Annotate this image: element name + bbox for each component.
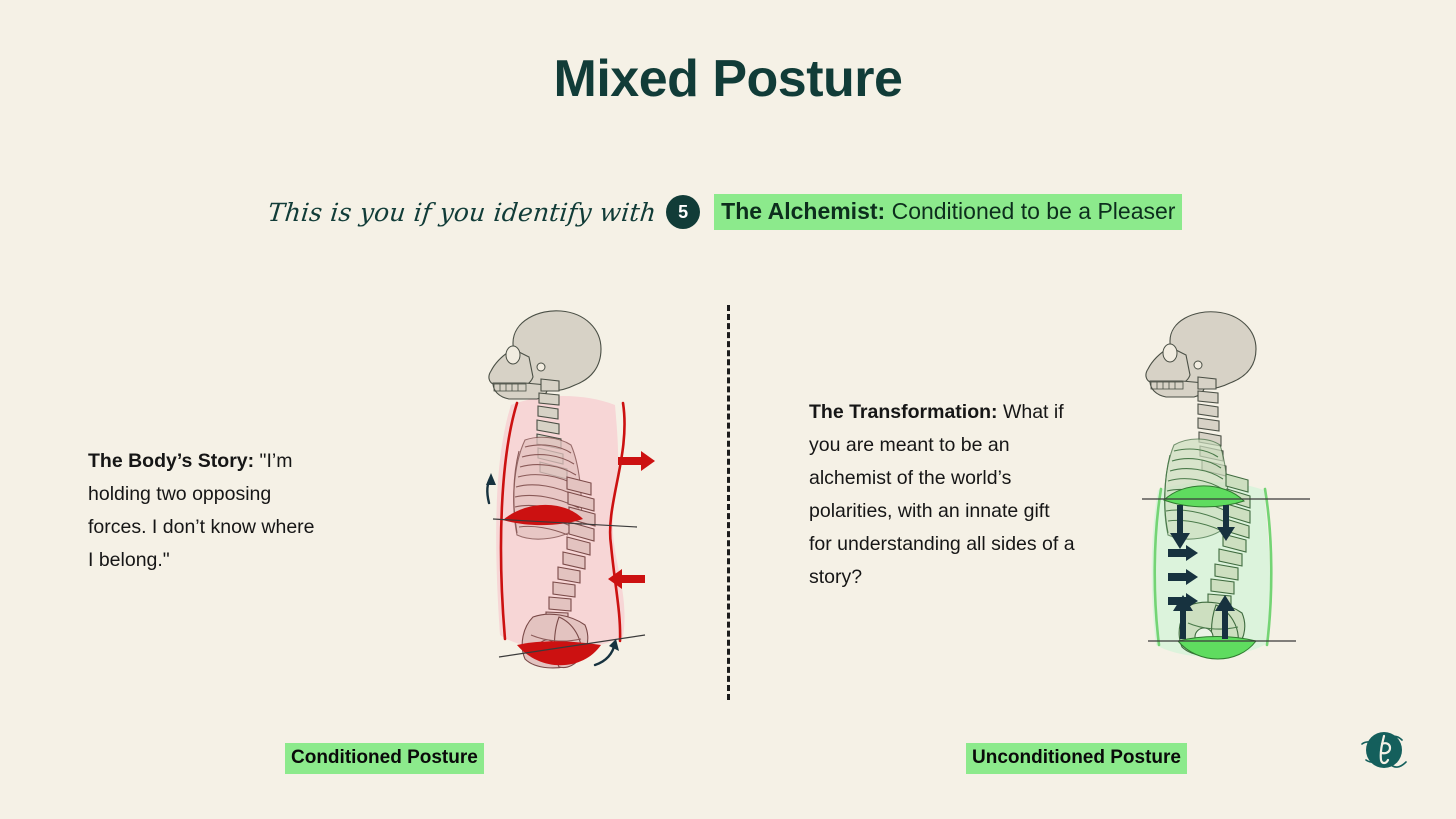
- archetype-label: The Alchemist:: [721, 198, 885, 224]
- script-lead-text: This is you if you identify with: [266, 198, 657, 227]
- conditioned-posture-figure: .bone { fill:#d7d2c6; stroke:#4a4f45; st…: [455, 305, 685, 685]
- body-story-heading: The Body’s Story:: [88, 450, 254, 472]
- transformation-body: What if you are meant to be an alchemist…: [809, 401, 1075, 588]
- archetype-highlight-bar: The Alchemist: Conditioned to be a Pleas…: [714, 194, 1182, 230]
- conditioned-posture-label: Conditioned Posture: [285, 743, 484, 774]
- unconditioned-posture-label: Unconditioned Posture: [966, 743, 1187, 774]
- transformation-heading: The Transformation:: [809, 401, 998, 423]
- number-badge-icon: 5: [666, 195, 700, 229]
- brand-logo-icon[interactable]: [1356, 722, 1412, 778]
- archetype-description: Conditioned to be a Pleaser: [885, 198, 1175, 224]
- transformation-text: The Transformation: What if you are mean…: [809, 396, 1077, 594]
- unconditioned-posture-figure: .gbone { fill:#d7d2c6; stroke:#4a4f45; s…: [1128, 305, 1323, 675]
- page-title: Mixed Posture: [0, 49, 1456, 109]
- dashed-vertical-divider: [727, 305, 730, 700]
- subtitle-row: This is you if you identify with 5 The A…: [268, 192, 1182, 232]
- body-story-text: The Body’s Story: "I’m holding two oppos…: [88, 445, 323, 577]
